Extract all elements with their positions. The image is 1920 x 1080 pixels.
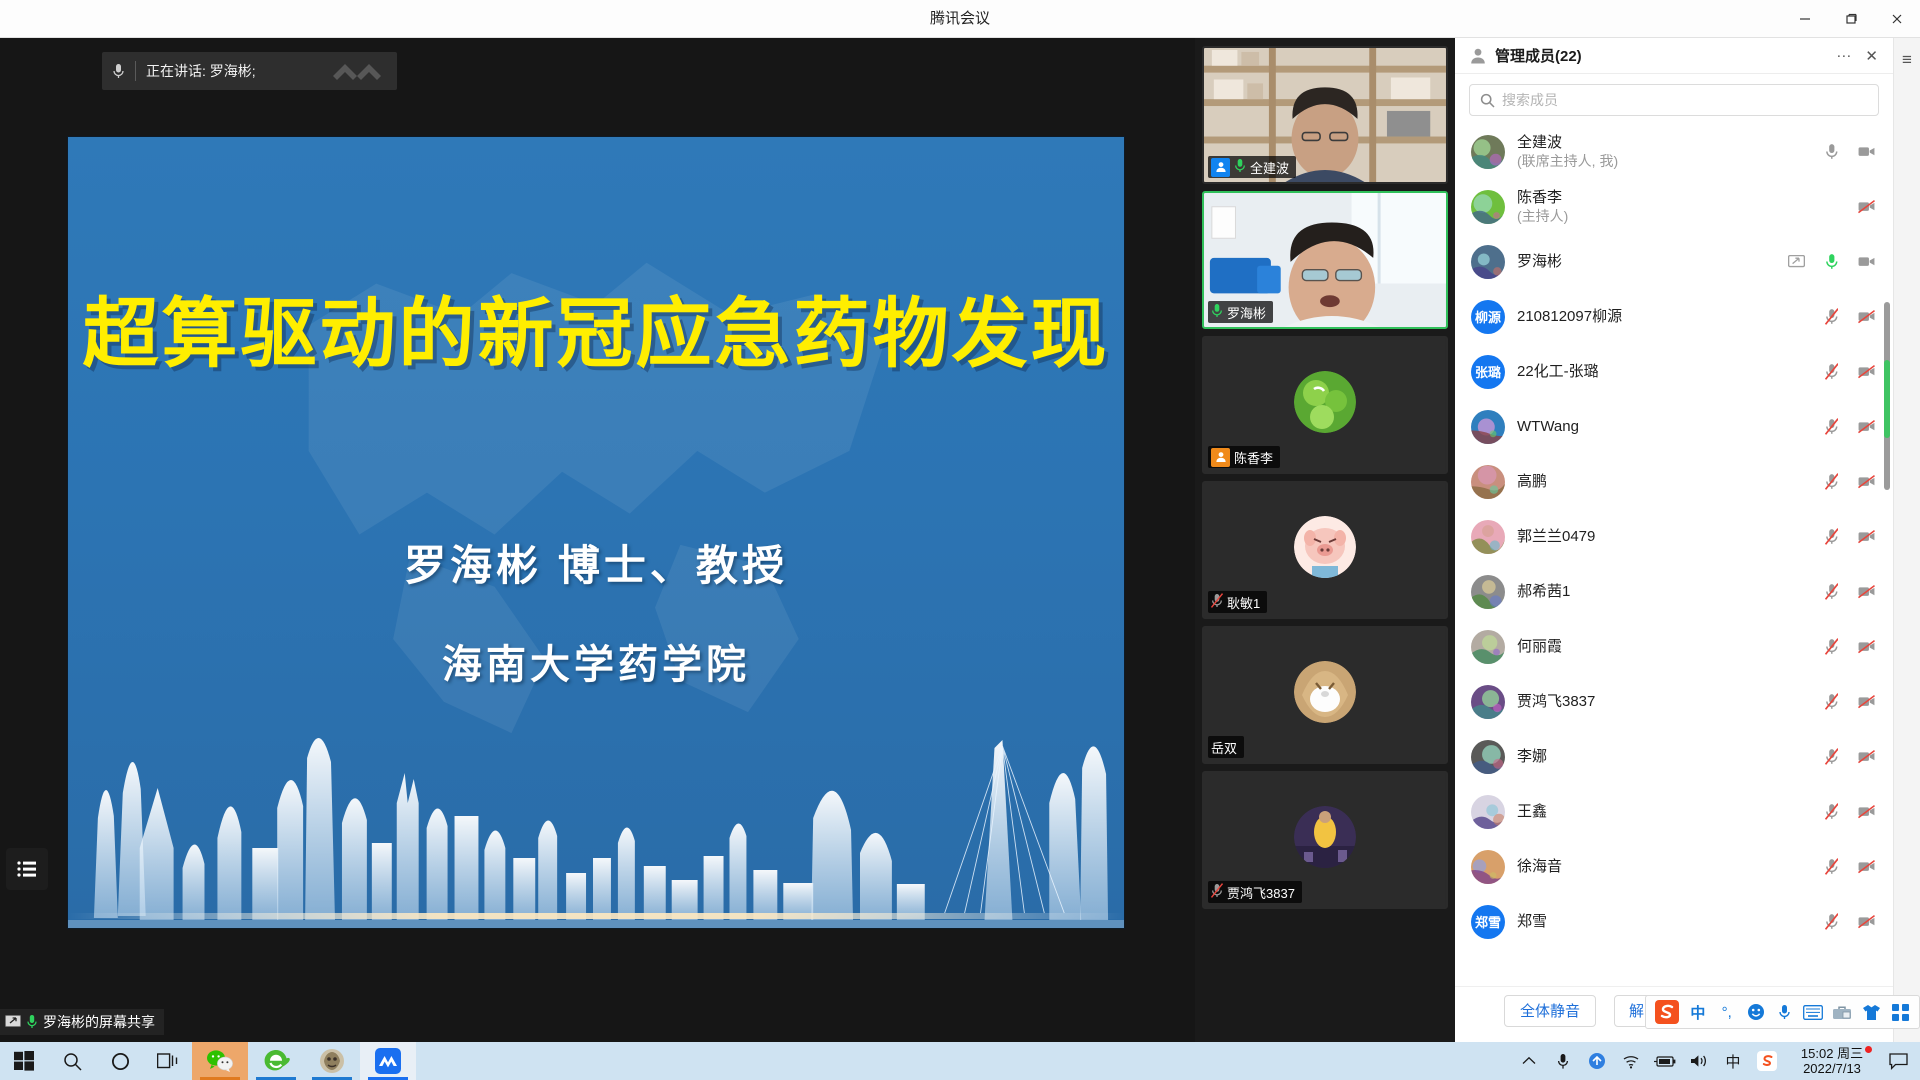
video-tile-name: 陈香李 (1234, 448, 1273, 467)
avatar (1471, 740, 1505, 774)
video-tile[interactable]: 陈香李 (1202, 336, 1448, 474)
task-view-button[interactable] (144, 1042, 192, 1080)
ime-skin-icon[interactable] (1858, 999, 1884, 1025)
participant-row[interactable]: 郭兰兰0479 (1455, 509, 1893, 564)
avatar (1471, 630, 1505, 664)
screen-share-banner: 罗海彬的屏幕共享 (0, 1009, 164, 1035)
microphone-icon (112, 63, 125, 80)
close-button[interactable] (1874, 0, 1920, 38)
participant-row[interactable]: 张璐22化工-张璐 (1455, 344, 1893, 399)
camera-icon[interactable] (1858, 638, 1875, 655)
participant-name: 郭兰兰0479 (1517, 527, 1811, 546)
participant-name: 李娜 (1517, 747, 1811, 766)
participant-status-icons (1823, 913, 1875, 930)
participant-names: 郝希茜1 (1517, 582, 1811, 601)
participant-status-icons (1823, 308, 1875, 325)
camera-icon[interactable] (1858, 858, 1875, 875)
participant-status-icons (1823, 143, 1875, 160)
participant-row[interactable]: 郝希茜1 (1455, 564, 1893, 619)
tray-updater-icon[interactable] (1580, 1042, 1614, 1080)
taskbar-app-tencent-meeting[interactable] (360, 1042, 416, 1080)
camera-icon[interactable] (1858, 418, 1875, 435)
avatar (1294, 371, 1356, 433)
search-box[interactable] (1469, 84, 1879, 116)
avatar (1294, 516, 1356, 578)
mic-icon[interactable] (1823, 363, 1840, 380)
slide-affiliation: 海南大学药学院 (68, 632, 1124, 690)
windows-icon (14, 1051, 34, 1071)
participant-row[interactable]: 陈香李(主持人) (1455, 179, 1893, 234)
camera-icon[interactable] (1858, 803, 1875, 820)
mic-icon-placeholder (1823, 198, 1840, 215)
video-tile[interactable]: 岳双 (1202, 626, 1448, 764)
ime-emoji-icon[interactable] (1743, 999, 1769, 1025)
participant-status-icons (1823, 583, 1875, 600)
active-speaker-toast: 正在讲话: 罗海彬; (102, 52, 397, 90)
video-tile-label: 岳双 (1208, 736, 1244, 758)
camera-icon[interactable] (1858, 583, 1875, 600)
participant-name: 全建波 (1517, 133, 1811, 152)
participant-row[interactable]: 王鑫 (1455, 784, 1893, 839)
video-tile[interactable]: 耿敏1 (1202, 481, 1448, 619)
avatar (1471, 685, 1505, 719)
sogou-ime-toolbar[interactable]: 中 °, (1645, 995, 1920, 1029)
mic-icon[interactable] (1823, 638, 1840, 655)
window-title: 腾讯会议 (0, 0, 1920, 38)
video-tile-name: 罗海彬 (1227, 303, 1266, 322)
mic-icon[interactable] (1823, 858, 1840, 875)
game-app-icon (319, 1048, 345, 1074)
cortana-button[interactable] (96, 1042, 144, 1080)
participant-row[interactable]: 高鹏 (1455, 454, 1893, 509)
camera-icon[interactable] (1858, 473, 1875, 490)
participant-names: 郑雪 (1517, 912, 1811, 931)
participant-status-icons (1823, 748, 1875, 765)
ime-voice-icon[interactable] (1772, 999, 1798, 1025)
ime-toolbox-icon[interactable] (1829, 999, 1855, 1025)
video-tile-label: 贾鸿飞3837 (1208, 881, 1302, 903)
participant-name: 22化工-张璐 (1517, 362, 1811, 381)
video-tile[interactable]: 全建波 (1202, 46, 1448, 184)
mic-icon[interactable] (1823, 418, 1840, 435)
system-tray: 中 15:02 周三 2022/7/13 (1512, 1042, 1920, 1080)
participant-name: WTWang (1517, 417, 1811, 436)
avatar (1471, 520, 1505, 554)
participant-row[interactable]: 柳源210812097柳源 (1455, 289, 1893, 344)
camera-icon[interactable] (1858, 253, 1875, 270)
video-tile-label: 陈香李 (1208, 446, 1280, 468)
participant-names: 罗海彬 (1517, 252, 1776, 271)
slide-outline-button[interactable] (6, 848, 48, 890)
camera-icon[interactable] (1858, 308, 1875, 325)
cortana-icon (111, 1052, 130, 1071)
participant-name: 210812097柳源 (1517, 307, 1811, 326)
skyline-illustration (68, 698, 1124, 928)
participant-name: 王鑫 (1517, 802, 1811, 821)
participant-name: 高鹏 (1517, 472, 1811, 491)
notification-dot (1865, 1046, 1872, 1053)
participant-names: 何丽霞 (1517, 637, 1811, 656)
participant-row[interactable]: 徐海音 (1455, 839, 1893, 894)
mic-icon[interactable] (1823, 253, 1840, 270)
participant-status-icons (1823, 858, 1875, 875)
video-tile-label: 耿敏1 (1208, 591, 1267, 613)
participant-names: 全建波(联席主持人, 我) (1517, 133, 1811, 171)
mic-icon[interactable] (1823, 913, 1840, 930)
host-badge (1211, 448, 1230, 467)
mic-icon (1211, 883, 1223, 901)
video-tile-name: 岳双 (1211, 738, 1237, 757)
active-speaker-text: 正在讲话: 罗海彬; (146, 61, 256, 81)
slide-title: 超算驱动的新冠应急药物发现 (68, 272, 1124, 382)
participant-role: (联席主持人, 我) (1517, 152, 1811, 171)
camera-icon[interactable] (1858, 748, 1875, 765)
search-icon (1480, 93, 1495, 108)
participant-row[interactable]: 李娜 (1455, 729, 1893, 784)
panel-side-rail[interactable]: ≡ (1893, 38, 1920, 1042)
avatar: 柳源 (1471, 300, 1505, 334)
participant-names: 徐海音 (1517, 857, 1811, 876)
camera-icon[interactable] (1858, 363, 1875, 380)
tray-sogou-icon[interactable] (1750, 1042, 1784, 1080)
panel-header: 管理成员(22) ··· ✕ (1455, 38, 1893, 74)
video-tile-name: 耿敏1 (1227, 593, 1260, 612)
video-tile-name: 全建波 (1250, 158, 1289, 177)
person-icon (1469, 47, 1487, 65)
avatar (1471, 465, 1505, 499)
taskbar-app-wechat[interactable] (192, 1042, 248, 1080)
windows-taskbar: 中 15:02 周三 2022/7/13 (0, 1042, 1920, 1080)
participant-names: 李娜 (1517, 747, 1811, 766)
participant-row[interactable]: 贾鸿飞3837 (1455, 674, 1893, 729)
mic-icon[interactable] (1823, 473, 1840, 490)
co-host-badge (1211, 158, 1230, 177)
task-view-icon (157, 1052, 179, 1070)
taskbar-clock[interactable]: 15:02 周三 2022/7/13 (1784, 1042, 1880, 1080)
tray-chevron-icon[interactable] (1512, 1042, 1546, 1080)
minimize-button[interactable] (1782, 0, 1828, 38)
share-banner-text: 罗海彬的屏幕共享 (43, 1012, 155, 1032)
avatar (1471, 850, 1505, 884)
camera-icon[interactable] (1858, 913, 1875, 930)
participant-status-icons (1788, 253, 1875, 270)
participant-status-icons (1823, 638, 1875, 655)
mic-icon[interactable] (1823, 803, 1840, 820)
more-options-icon[interactable]: ··· (1833, 47, 1854, 64)
participant-status-icons (1823, 418, 1875, 435)
camera-icon[interactable] (1858, 528, 1875, 545)
ime-keyboard-icon[interactable] (1800, 999, 1826, 1025)
search-input[interactable] (1502, 92, 1868, 108)
decorative-chevrons-icon (331, 58, 391, 84)
maximize-button[interactable] (1828, 0, 1874, 38)
slide-presenter: 罗海彬 博士、教授 (68, 532, 1124, 593)
mic-icon[interactable] (1823, 308, 1840, 325)
avatar (1471, 410, 1505, 444)
participant-name: 郝希茜1 (1517, 582, 1811, 601)
participant-status-icons (1823, 803, 1875, 820)
search-container (1455, 74, 1893, 124)
camera-icon[interactable] (1858, 693, 1875, 710)
participant-row[interactable]: 何丽霞 (1455, 619, 1893, 674)
avatar (1294, 661, 1356, 723)
participant-status-icons (1823, 198, 1875, 215)
tray-volume-icon[interactable] (1682, 1042, 1716, 1080)
video-tile[interactable]: 贾鸿飞3837 (1202, 771, 1448, 909)
presentation-slide: 超算驱动的新冠应急药物发现 罗海彬 博士、教授 海南大学药学院 (67, 136, 1125, 929)
participant-name: 郑雪 (1517, 912, 1811, 931)
participant-names: 22化工-张璐 (1517, 362, 1811, 381)
ime-mode-button[interactable]: 中 (1685, 999, 1711, 1025)
participant-status-icons (1823, 693, 1875, 710)
list-icon (16, 859, 38, 879)
mic-icon (1211, 303, 1223, 321)
participant-role: (主持人) (1517, 207, 1811, 226)
tencent-meeting-icon (374, 1047, 402, 1075)
participant-name: 徐海音 (1517, 857, 1811, 876)
clock-time: 15:02 周三 (1801, 1046, 1863, 1061)
video-tile[interactable]: 罗海彬 (1202, 191, 1448, 329)
avatar (1471, 575, 1505, 609)
participant-name: 何丽霞 (1517, 637, 1811, 656)
video-tile-label: 罗海彬 (1208, 301, 1273, 323)
tray-microphone-icon[interactable] (1546, 1042, 1580, 1080)
video-tile-name: 贾鸿飞3837 (1227, 883, 1295, 902)
camera-icon[interactable] (1858, 143, 1875, 160)
scrollbar-thumb[interactable] (1884, 360, 1890, 438)
notification-center-button[interactable] (1880, 1042, 1916, 1080)
participant-name: 贾鸿飞3837 (1517, 692, 1811, 711)
participant-names: WTWang (1517, 417, 1811, 436)
avatar (1294, 806, 1356, 868)
avatar (1471, 795, 1505, 829)
participant-names: 王鑫 (1517, 802, 1811, 821)
desktop: 腾讯会议 超算驱动的新冠应急药物发现 罗海彬 博士、教授 海南大学药学院 (0, 0, 1920, 1080)
participant-name: 罗海彬 (1517, 252, 1776, 271)
participant-names: 210812097柳源 (1517, 307, 1811, 326)
panel-title: 管理成员(22) (1495, 45, 1582, 66)
participant-status-icons (1823, 473, 1875, 490)
mic-icon (1211, 593, 1223, 611)
hamburger-icon[interactable]: ≡ (1902, 50, 1912, 70)
avatar: 郑雪 (1471, 905, 1505, 939)
tray-battery-icon[interactable] (1648, 1042, 1682, 1080)
mic-icon[interactable] (1823, 748, 1840, 765)
participant-names: 郭兰兰0479 (1517, 527, 1811, 546)
avatar: 张璐 (1471, 355, 1505, 389)
participant-row[interactable]: 罗海彬 (1455, 234, 1893, 289)
camera-icon[interactable] (1858, 198, 1875, 215)
video-tile-label: 全建波 (1208, 156, 1296, 178)
participant-row[interactable]: 全建波(联席主持人, 我) (1455, 124, 1893, 179)
participant-status-icons (1823, 363, 1875, 380)
tray-wifi-icon[interactable] (1614, 1042, 1648, 1080)
participant-row[interactable]: 郑雪郑雪 (1455, 894, 1893, 949)
participant-list-scrollbar[interactable] (1884, 302, 1890, 490)
mic-icon[interactable] (1823, 528, 1840, 545)
taskbar-search-button[interactable] (48, 1042, 96, 1080)
mic-icon (1234, 158, 1246, 176)
window-titlebar: 腾讯会议 (0, 0, 1920, 38)
video-filmstrip[interactable]: 全建波罗海彬陈香李耿敏1岳双贾鸿飞3837 (1195, 38, 1455, 1042)
participant-row[interactable]: WTWang (1455, 399, 1893, 454)
mic-icon[interactable] (1823, 693, 1840, 710)
taskbar-app-internet-explorer[interactable] (248, 1042, 304, 1080)
microphone-icon (26, 1014, 38, 1030)
sogou-logo-icon[interactable] (1652, 999, 1682, 1025)
participant-list[interactable]: 全建波(联席主持人, 我)陈香李(主持人)罗海彬柳源210812097柳源张璐2… (1455, 124, 1893, 986)
participant-status-icons (1823, 528, 1875, 545)
mic-icon[interactable] (1823, 143, 1840, 160)
avatar (1471, 190, 1505, 224)
participant-name: 陈香李 (1517, 188, 1811, 207)
participant-names: 陈香李(主持人) (1517, 188, 1811, 226)
mute-all-button[interactable]: 全体静音 (1504, 995, 1596, 1027)
internet-explorer-icon (262, 1048, 290, 1074)
participant-names: 贾鸿飞3837 (1517, 692, 1811, 711)
ime-punctuation-button[interactable]: °, (1714, 999, 1740, 1025)
ime-apps-icon[interactable] (1887, 999, 1913, 1025)
screen-share-icon[interactable] (1788, 253, 1805, 270)
avatar (1471, 245, 1505, 279)
search-icon (63, 1052, 82, 1071)
participant-names: 高鹏 (1517, 472, 1811, 491)
wechat-icon (206, 1049, 234, 1073)
avatar (1471, 135, 1505, 169)
tray-ime-indicator[interactable]: 中 (1716, 1042, 1750, 1080)
window-controls (1782, 0, 1920, 38)
close-panel-icon[interactable]: ✕ (1862, 47, 1881, 65)
start-button[interactable] (0, 1042, 48, 1080)
taskbar-app-game[interactable] (304, 1042, 360, 1080)
shared-screen-stage: 超算驱动的新冠应急药物发现 罗海彬 博士、教授 海南大学药学院 (0, 38, 1195, 1042)
mic-icon[interactable] (1823, 583, 1840, 600)
participants-panel: 管理成员(22) ··· ✕ 全建波(联席主持人, 我)陈香李(主持人)罗海彬柳… (1455, 38, 1893, 1042)
screen-share-icon (5, 1015, 21, 1029)
clock-date: 2022/7/13 (1803, 1061, 1861, 1076)
notification-icon (1889, 1053, 1908, 1070)
